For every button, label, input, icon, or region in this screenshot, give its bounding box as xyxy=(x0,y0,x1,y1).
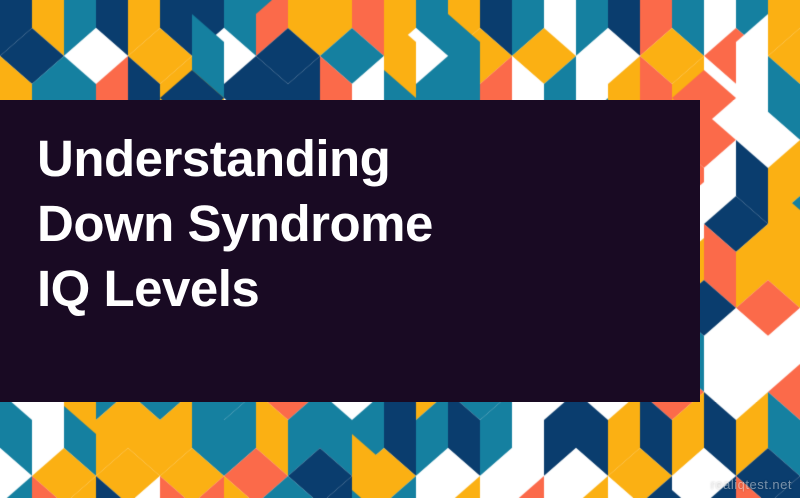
hero-banner: Understanding Down Syndrome IQ Levels re… xyxy=(0,0,800,498)
title-line-3: IQ Levels xyxy=(37,256,677,321)
page-title: Understanding Down Syndrome IQ Levels xyxy=(37,126,677,321)
title-line-1: Understanding xyxy=(37,126,677,191)
site-watermark: realiqtest.net xyxy=(711,477,792,492)
title-line-2: Down Syndrome xyxy=(37,191,677,256)
